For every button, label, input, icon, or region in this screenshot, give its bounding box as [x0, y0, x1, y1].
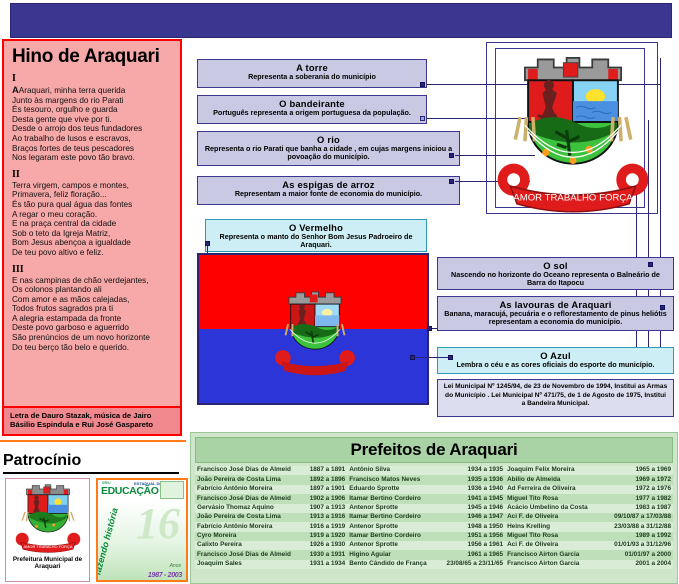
name-cell: Acácio Umbelino da Costa — [505, 504, 604, 513]
callout-o-rio: O rio Representa o rio Parati que banha … — [197, 131, 460, 166]
coat-motto: AMOR TRABALHO FORÇA — [513, 193, 633, 204]
sponsor-educacao: Meu ESTADUAL DE EDUCAÇÃO 16 fazendo hist… — [96, 478, 188, 582]
connector-nub — [420, 82, 425, 87]
name-cell: Itamar Bertino Cordeiro — [347, 494, 443, 503]
name-cell: Higino Aguiar — [347, 550, 443, 559]
verse-body: AAraquari, minha terra querida Junto às … — [12, 85, 172, 163]
flag-coat-of-arms — [271, 285, 359, 377]
educacao-years: 1987 - 2003 — [148, 572, 182, 579]
educacao-number: 16 — [136, 502, 180, 546]
term-cell: 1956 a 1961 — [444, 541, 506, 550]
law-note-box: Lei Municipal Nº 1245/94, de 23 de Novem… — [437, 379, 674, 417]
term-cell: 1916 a 1919 — [291, 522, 347, 531]
term-cell: 23/08/65 a 23/11/65 — [444, 560, 506, 569]
callout-desc: Representa o rio Parati que banha a cida… — [202, 145, 455, 162]
name-cell: Miguel Tito Rosa — [505, 494, 604, 503]
name-cell: Eduardo Sprotte — [347, 485, 443, 494]
callout-desc: Representa a soberania do município — [202, 73, 422, 81]
term-cell: 2001 a 2004 — [604, 560, 673, 569]
table-row: João Pereira de Costa Lima1913 a 1916Ita… — [195, 513, 673, 522]
sponsor-caption: Prefeitura Municipal de Araquari — [6, 556, 89, 571]
term-cell: 1892 a 1896 — [291, 475, 347, 484]
table-row: João Pereira de Costa Lima1892 a 1896Fra… — [195, 475, 673, 484]
callout-a-torre: A torre Representa a soberania do municí… — [197, 59, 427, 88]
law-note-text: Lei Municipal Nº 1245/94, de 23 de Novem… — [443, 383, 668, 409]
coat-of-arms-icon: AMOR TRABALHO FORÇA — [12, 479, 84, 555]
table-row: Joaquim Sales1931 a 1934Bento Cândido de… — [195, 560, 673, 569]
term-cell: 01/01/97 a 2000 — [604, 550, 673, 559]
table-row: Calixto Pereira1926 a 1930Antenor Sprott… — [195, 541, 673, 550]
term-cell: 1919 a 1920 — [291, 532, 347, 541]
term-cell: 1902 a 1906 — [291, 494, 347, 503]
poster-page: Hino de Araquari I AAraquari, minha terr… — [0, 0, 679, 584]
table-row: Francisco José Dias de Almeida1902 a 190… — [195, 494, 673, 503]
name-cell: João Pereira de Costa Lima — [195, 513, 291, 522]
term-cell: 1948 a 1950 — [444, 522, 506, 531]
coat-of-arms-svg: AMOR TRABALHO FORÇA — [489, 45, 657, 215]
name-cell: Antônio Silva — [347, 466, 443, 475]
verse-body: E nas campinas de chão verdejantes, Os c… — [12, 276, 172, 353]
name-cell: Abilio de Almeida — [505, 475, 604, 484]
educacao-anos: Anos — [170, 563, 181, 569]
flag-image — [197, 253, 429, 405]
callout-desc: Representa o manto do Senhor Bom Jesus P… — [210, 233, 422, 250]
callout-desc: Banana, maracujá, pecuária e o reflorest… — [442, 310, 669, 327]
name-cell: Itamar Bertino Cordeiro — [347, 513, 443, 522]
term-cell: 1946 a 1947 — [444, 513, 506, 522]
connector-nub — [660, 305, 665, 310]
term-cell: 1913 a 1916 — [291, 513, 347, 522]
name-cell: Ad Ferreira de Oliveira — [505, 485, 604, 494]
connector-nub — [648, 262, 653, 267]
table-row: Fabrício Antônio Moreira1916 a 1919Anten… — [195, 522, 673, 531]
term-cell: 1935 a 1936 — [444, 475, 506, 484]
term-cell: 1961 a 1965 — [444, 550, 506, 559]
name-cell: Joaquim Sales — [195, 560, 291, 569]
term-cell: 1969 a 1972 — [604, 475, 673, 484]
name-cell: Francisco Matos Neves — [347, 475, 443, 484]
educacao-badge-icon — [160, 481, 184, 499]
educacao-word: EDUCAÇÃO — [101, 485, 158, 497]
name-cell: Fabrício Antônio Moreira — [195, 522, 291, 531]
name-cell: Itamar Bertino Cordeiro — [347, 532, 443, 541]
term-cell: 1897 a 1901 — [291, 485, 347, 494]
table-row: Francisco José Dias de Almeida1930 a 193… — [195, 550, 673, 559]
callout-o-sol: O sol Nascendo no horizonte do Oceano re… — [437, 257, 674, 290]
name-cell: Antenor Sprotte — [347, 522, 443, 531]
prefeitos-title: Prefeitos de Araquari — [350, 440, 517, 460]
term-cell: 01/01/93 a 31/12/96 — [604, 541, 673, 550]
verse-body: Terra virgem, campos e montes, Primavera… — [12, 181, 172, 258]
name-cell: Gervásio Thomaz Aquino — [195, 504, 291, 513]
name-cell: Antenor Sprotte — [347, 541, 443, 550]
educacao-body: 16 fazendo história Anos 1987 - 2003 — [98, 500, 186, 580]
connector-nub — [448, 355, 453, 360]
name-cell: Fabrício Antônio Moreira — [195, 485, 291, 494]
name-cell: Aci F. de Oliveira — [505, 541, 604, 550]
term-cell: 1931 a 1934 — [291, 560, 347, 569]
connector-line — [412, 357, 450, 358]
callout-o-azul: O Azul Lembra o céu e as cores oficiais … — [437, 347, 674, 374]
hymn-credit: Letra de Dauro Stazak, música de Jairo B… — [2, 406, 182, 436]
connector-nub-hollow — [420, 116, 425, 121]
table-row: Francisco José Dias de Almeida1887 a 189… — [195, 466, 673, 475]
term-cell: 23/03/88 a 31/12/88 — [604, 522, 673, 531]
patrocinio-rule — [3, 472, 179, 474]
svg-text:AMOR TRABALHO FORÇA: AMOR TRABALHO FORÇA — [23, 544, 72, 549]
name-cell: Francisco José Dias de Almeida — [195, 550, 291, 559]
verse-number: III — [12, 264, 172, 275]
term-cell: 1934 a 1935 — [444, 466, 506, 475]
name-cell: Antenor Sprotte — [347, 504, 443, 513]
name-cell: Francisco José Dias de Almeida — [195, 466, 291, 475]
prefeitos-title-box: Prefeitos de Araquari — [195, 437, 673, 463]
term-cell: 1941 a 1945 — [444, 494, 506, 503]
verse-number: II — [12, 169, 172, 180]
name-cell: Bento Cândido de França — [347, 560, 443, 569]
table-row: Fabrício Antônio Moreira1897 a 1901Eduar… — [195, 485, 673, 494]
patrocinio-title: Patrocínio — [3, 452, 81, 470]
name-cell: Joaquim Felix Moreira — [505, 466, 604, 475]
connector-nub — [449, 153, 454, 158]
callout-o-bandeirante: O bandeirante Português representa a ori… — [197, 95, 427, 124]
term-cell: 1989 a 1992 — [604, 532, 673, 541]
name-cell: Francisco Airton Garcia — [505, 550, 604, 559]
callout-desc: Lembra o céu e as cores oficiais do espo… — [442, 361, 669, 369]
name-cell: Aci F. de Oliveira — [505, 513, 604, 522]
term-cell: 1926 a 1930 — [291, 541, 347, 550]
hymn-title: Hino de Araquari — [12, 47, 172, 67]
term-cell: 1907 a 1913 — [291, 504, 347, 513]
name-cell: Francisco Airton Garcia — [505, 560, 604, 569]
term-cell: 1965 a 1969 — [604, 466, 673, 475]
callout-as-lavouras: As lavouras de Araquari Banana, maracujá… — [437, 296, 674, 331]
sponsor-prefeitura: AMOR TRABALHO FORÇA Prefeitura Municipal… — [5, 478, 90, 582]
hymn-panel: Hino de Araquari I AAraquari, minha terr… — [2, 39, 182, 429]
term-cell: 1887 a 1891 — [291, 466, 347, 475]
table-row: Cyro Moreira1919 a 1920Itamar Bertino Co… — [195, 532, 673, 541]
term-cell: 1936 a 1940 — [444, 485, 506, 494]
callout-o-vermelho: O Vermelho Representa o manto do Senhor … — [205, 219, 427, 252]
term-cell: 1951 a 1956 — [444, 532, 506, 541]
name-cell: Heins Krelling — [505, 522, 604, 531]
educacao-header: Meu ESTADUAL DE EDUCAÇÃO — [98, 480, 186, 500]
prefeitos-panel: Prefeitos de Araquari Francisco José Dia… — [190, 432, 678, 584]
callout-desc: Português representa a origem portuguesa… — [202, 109, 422, 117]
orange-divider — [0, 440, 186, 442]
term-cell: 1977 a 1982 — [604, 494, 673, 503]
term-cell: 1983 a 1987 — [604, 504, 673, 513]
name-cell: Calixto Pereira — [195, 541, 291, 550]
name-cell: Francisco José Dias de Almeida — [195, 494, 291, 503]
callout-desc: Representam a maior fonte de economia do… — [202, 190, 455, 198]
term-cell: 1972 a 1976 — [604, 485, 673, 494]
verse-number: I — [12, 73, 172, 84]
top-banner — [10, 3, 672, 38]
connector-nub — [205, 241, 210, 246]
name-cell: Miguel Tito Rosa — [505, 532, 604, 541]
educacao-vertical-text: fazendo história — [96, 507, 120, 576]
term-cell: 09/10/87 a 17/03/88 — [604, 513, 673, 522]
name-cell: Cyro Moreira — [195, 532, 291, 541]
callout-desc: Nascendo no horizonte do Oceano represen… — [442, 271, 669, 288]
name-cell: João Pereira de Costa Lima — [195, 475, 291, 484]
connector-nub — [449, 179, 454, 184]
table-row: Gervásio Thomaz Aquino1907 a 1913Antenor… — [195, 504, 673, 513]
term-cell: 1930 a 1931 — [291, 550, 347, 559]
coat-of-arms-image: AMOR TRABALHO FORÇA — [489, 45, 657, 215]
prefeitos-table: Francisco José Dias de Almeida1887 a 189… — [195, 466, 673, 569]
callout-espigas-arroz: As espigas de arroz Representam a maior … — [197, 176, 460, 205]
term-cell: 1945 a 1946 — [444, 504, 506, 513]
